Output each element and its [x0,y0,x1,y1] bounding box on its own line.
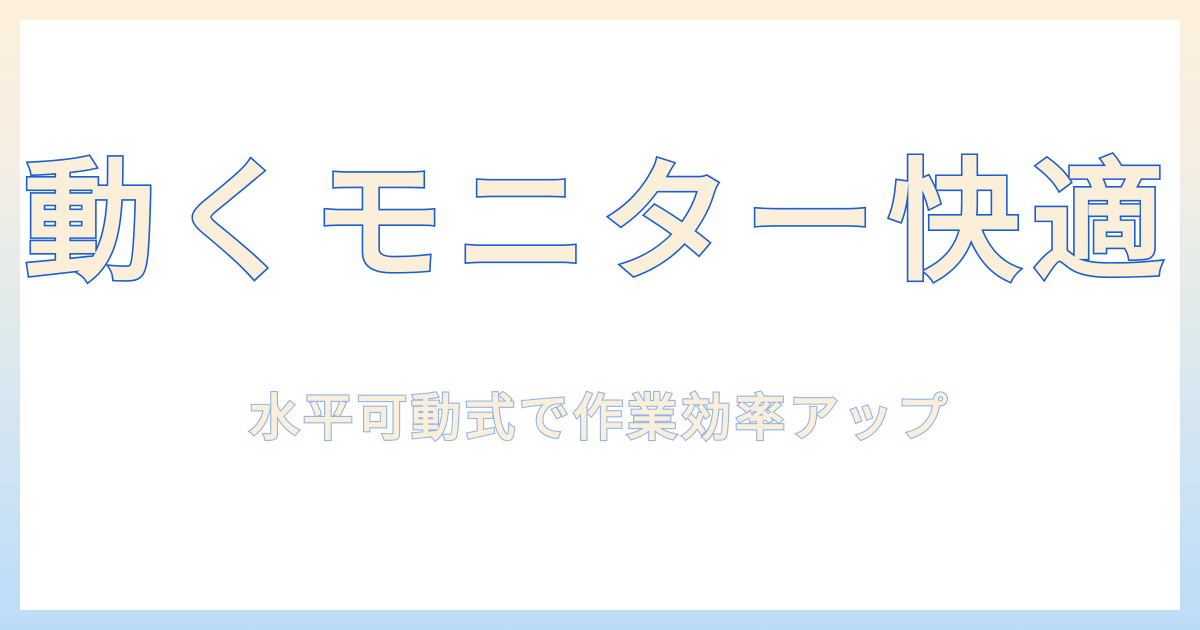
page-title: 動くモニター快適 [24,146,1176,302]
content-card: 動くモニター快適 水平可動式で作業効率アップ [20,20,1180,610]
headline-container: 動くモニター快適 [20,20,1180,302]
banner-root: 動くモニター快適 水平可動式で作業効率アップ [0,0,1200,630]
subheadline-container: 水平可動式で作業効率アップ [20,388,1180,448]
page-subtitle: 水平可動式で作業効率アップ [249,388,951,448]
